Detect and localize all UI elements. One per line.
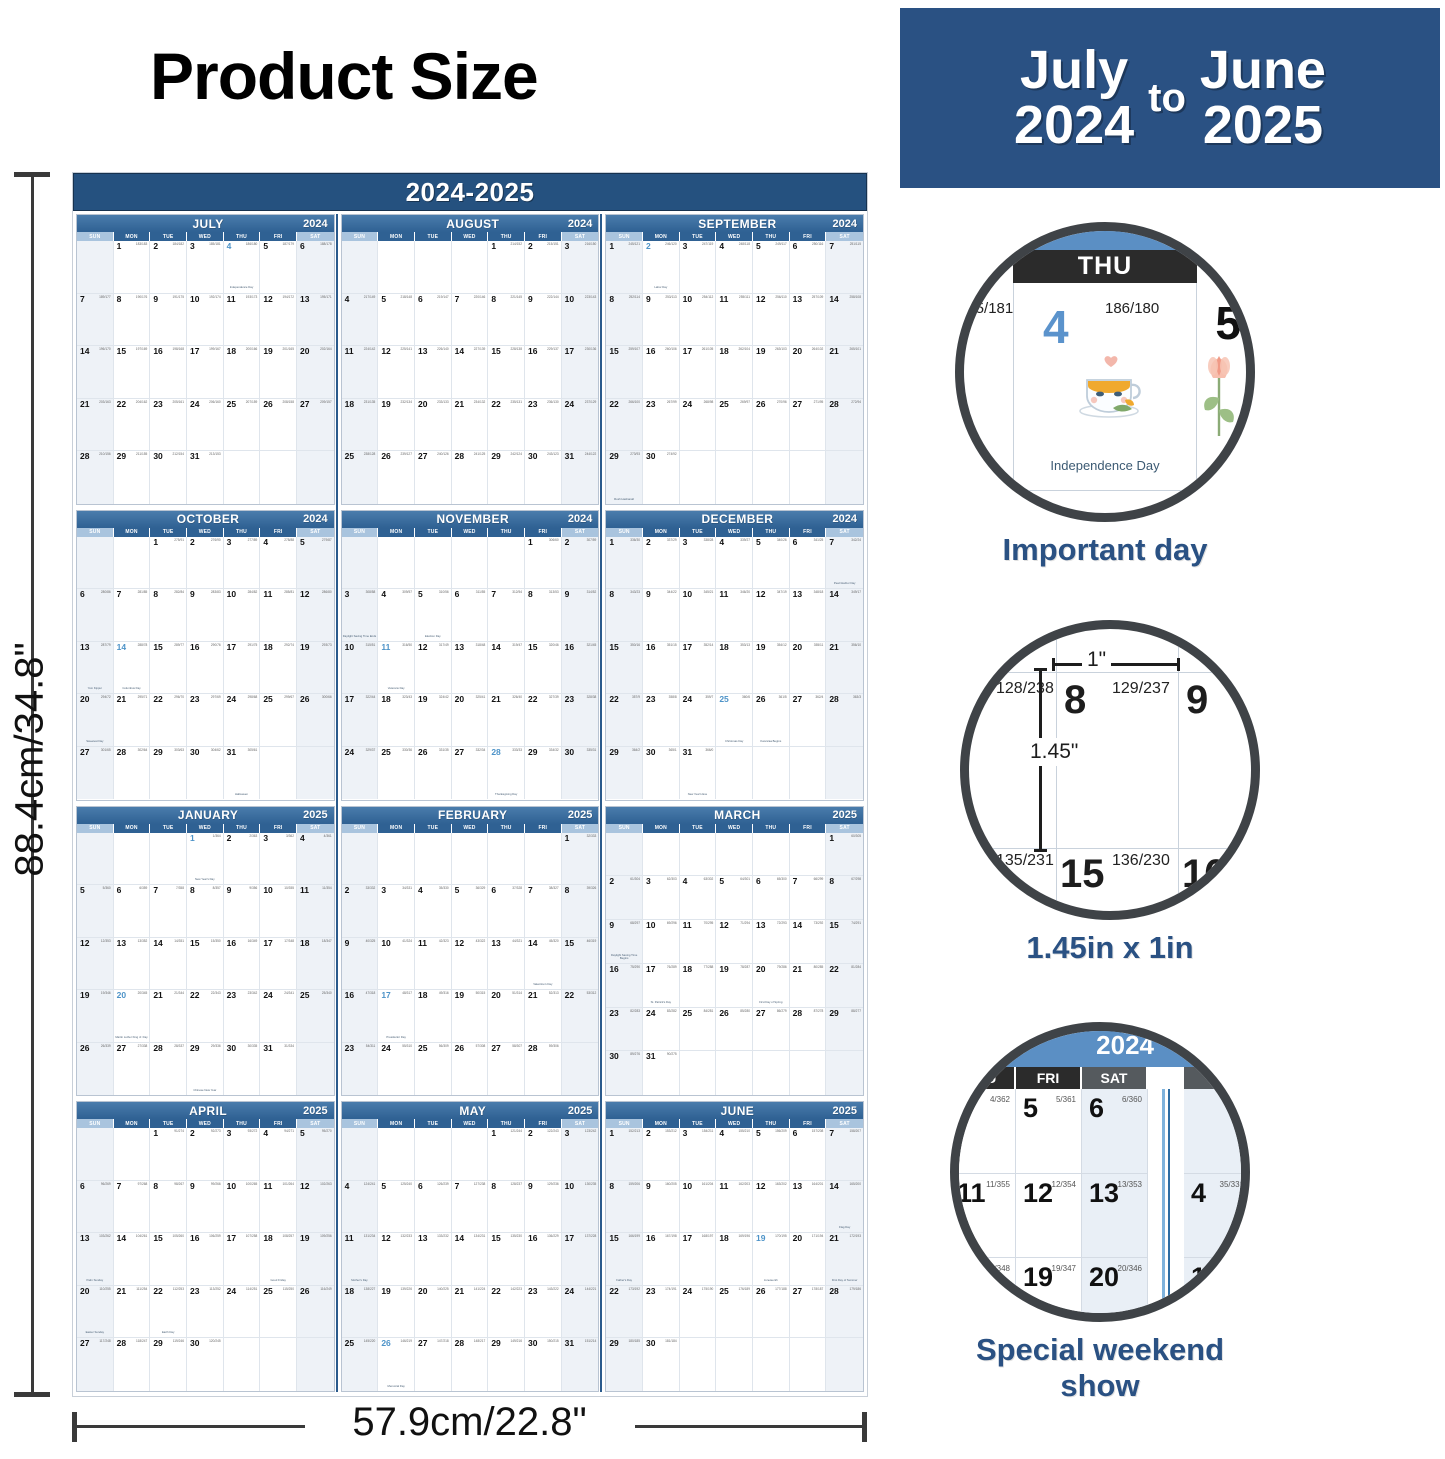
day-cell[interactable]: 5279/87 [297, 537, 334, 590]
day-cell[interactable]: 20140/225 [415, 1286, 452, 1339]
day-cell[interactable]: 16260/106 [643, 346, 680, 399]
day-cell[interactable]: 2184/182 [150, 241, 187, 294]
day-cell[interactable]: 2354/311 [342, 1043, 379, 1096]
day-cell[interactable]: 24144/221 [562, 1286, 599, 1339]
day-cell[interactable]: 3216/150 [562, 241, 599, 294]
day-cell[interactable]: 494/271 [260, 1128, 297, 1181]
day-cell[interactable]: 30335/31 [562, 747, 599, 800]
day-cell[interactable]: 2122/243 [525, 1128, 562, 1181]
day-cell[interactable]: 12163/202 [753, 1181, 790, 1234]
day-cell[interactable] [114, 537, 151, 590]
day-cell[interactable]: 26177/188 [753, 1286, 790, 1339]
day-cell[interactable]: 3277/89 [224, 537, 261, 590]
day-cell[interactable]: 33/362 [260, 833, 297, 886]
day-cell[interactable]: 25269/97 [716, 399, 753, 452]
day-cell[interactable] [680, 833, 717, 877]
day-cell[interactable]: 2121/344 [150, 990, 187, 1043]
day-cell[interactable]: 8221/145 [488, 294, 525, 347]
day-cell[interactable] [297, 451, 334, 504]
day-cell[interactable]: 14196/170 [77, 346, 114, 399]
day-cell[interactable]: 5340/26 [753, 537, 790, 590]
day-cell[interactable]: 5218/148 [378, 294, 415, 347]
day-cell[interactable]: 696/269 [77, 1181, 114, 1234]
day-cell[interactable] [260, 1338, 297, 1391]
day-cell[interactable]: 11/364New Year's Day [187, 833, 224, 886]
day-cell[interactable]: 27147/218 [415, 1338, 452, 1391]
day-cell[interactable]: 27240/126 [415, 451, 452, 504]
day-cell[interactable]: 1142/323 [415, 938, 452, 991]
day-cell[interactable]: 21295/71 [114, 694, 151, 747]
day-cell[interactable] [378, 537, 415, 590]
day-cell[interactable]: 10284/82 [224, 589, 261, 642]
day-cell[interactable]: 1372/293 [753, 920, 790, 964]
day-cell[interactable]: 18138/227 [342, 1286, 379, 1339]
day-cell[interactable]: 18292/74 [260, 642, 297, 695]
day-cell[interactable]: 25115/250 [260, 1286, 297, 1339]
day-cell[interactable]: 1978/287 [716, 964, 753, 1008]
day-cell[interactable]: 2222/343 [187, 990, 224, 1043]
day-cell[interactable]: 2153/212 [643, 1128, 680, 1181]
day-cell[interactable]: 7251/115 [826, 241, 863, 294]
day-cell[interactable]: 2758/307 [488, 1043, 525, 1096]
day-cell[interactable]: 4155/210 [716, 1128, 753, 1181]
day-cell[interactable]: 12317/49 [415, 642, 452, 695]
day-cell[interactable]: 16106/259 [187, 1233, 224, 1286]
day-cell[interactable]: 15350/16 [606, 642, 643, 695]
day-cell[interactable]: 4339/27 [716, 537, 753, 590]
day-cell[interactable]: 31151/214 [562, 1338, 599, 1391]
day-cell[interactable]: 15320/46 [525, 642, 562, 695]
day-cell[interactable]: 30304/62 [187, 747, 224, 800]
day-cell[interactable]: 12225/141 [378, 346, 415, 399]
day-cell[interactable] [562, 1043, 599, 1096]
day-cell[interactable]: 9253/113 [643, 294, 680, 347]
day-cell[interactable]: 31213/153 [187, 451, 224, 504]
day-cell[interactable]: 11285/81 [260, 589, 297, 642]
day-cell[interactable]: 2337/29 [643, 537, 680, 590]
day-cell[interactable]: 2455/310 [378, 1043, 415, 1096]
day-cell[interactable]: 26146/219Memorial Day [378, 1338, 415, 1391]
day-cell[interactable]: 1748/317Presidents' Day [378, 990, 415, 1043]
day-cell[interactable]: 6126/239 [415, 1181, 452, 1234]
day-cell[interactable]: 1111/354 [297, 885, 334, 938]
day-cell[interactable]: 26116/249 [297, 1286, 334, 1339]
day-cell[interactable]: 18200/166 [224, 346, 261, 399]
day-cell[interactable] [452, 833, 489, 886]
day-cell[interactable]: 160/305 [826, 833, 863, 877]
day-cell[interactable]: 13318/48 [452, 642, 489, 695]
day-cell[interactable]: 19232/134 [378, 399, 415, 452]
day-cell[interactable]: 44/361 [297, 833, 334, 886]
day-cell[interactable]: 8190/176 [114, 294, 151, 347]
day-cell[interactable]: 10345/21 [680, 589, 717, 642]
day-cell[interactable]: 11193/173 [224, 294, 261, 347]
day-cell[interactable]: 88/357 [187, 885, 224, 938]
day-cell[interactable]: 20294/72Sweetest Day [77, 694, 114, 747]
day-cell[interactable] [224, 1338, 261, 1391]
day-cell[interactable]: 12132/233 [378, 1233, 415, 1286]
day-cell[interactable]: 14258/108 [826, 294, 863, 347]
day-cell[interactable] [114, 833, 151, 886]
day-cell[interactable]: 20171/194 [790, 1233, 827, 1286]
day-cell[interactable]: 2685/280 [716, 1008, 753, 1052]
day-cell[interactable] [826, 451, 863, 504]
day-cell[interactable] [680, 1051, 717, 1095]
day-cell[interactable] [716, 1051, 753, 1095]
day-cell[interactable]: 2626/339 [77, 1043, 114, 1096]
day-cell[interactable]: 6250/116 [790, 241, 827, 294]
day-cell[interactable]: 26239/127 [378, 451, 415, 504]
day-cell[interactable]: 334/331 [378, 885, 415, 938]
day-cell[interactable]: 3247/119 [680, 241, 717, 294]
day-cell[interactable]: 24175/190 [680, 1286, 717, 1339]
day-cell[interactable]: 463/302 [680, 876, 717, 920]
day-cell[interactable]: 839/326 [562, 885, 599, 938]
day-cell[interactable]: 11224/142 [342, 346, 379, 399]
day-cell[interactable]: 3185/181 [187, 241, 224, 294]
day-cell[interactable]: 1675/290 [606, 964, 643, 1008]
day-cell[interactable]: 4309/57 [378, 589, 415, 642]
day-cell[interactable]: 1445/320Valentine's Day [525, 938, 562, 991]
day-cell[interactable]: 1306/60 [525, 537, 562, 590]
day-cell[interactable]: 2079/286First Day of Spring [753, 964, 790, 1008]
day-cell[interactable]: 19139/226 [378, 1286, 415, 1339]
day-cell[interactable]: 26361/5Kwanzaa Begins [753, 694, 790, 747]
day-cell[interactable]: 1473/292 [790, 920, 827, 964]
day-cell[interactable] [297, 1338, 334, 1391]
day-cell[interactable]: 7312/54 [488, 589, 525, 642]
day-cell[interactable]: 17107/258 [224, 1233, 261, 1286]
day-cell[interactable]: 25176/189 [716, 1286, 753, 1339]
day-cell[interactable]: 18169/196 [716, 1233, 753, 1286]
day-cell[interactable]: 30212/154 [150, 451, 187, 504]
day-cell[interactable]: 12286/80 [297, 589, 334, 642]
day-cell[interactable]: 21356/10 [826, 642, 863, 695]
day-cell[interactable]: 1121/244 [488, 1128, 525, 1181]
day-cell[interactable]: 1717/348 [260, 938, 297, 991]
day-cell[interactable]: 30365/1 [643, 747, 680, 800]
day-cell[interactable] [790, 1051, 827, 1095]
day-cell[interactable]: 21111/254 [114, 1286, 151, 1339]
day-cell[interactable]: 10254/112 [680, 294, 717, 347]
day-cell[interactable]: 15228/138 [488, 346, 525, 399]
day-cell[interactable] [716, 451, 753, 504]
day-cell[interactable]: 27117/248 [77, 1338, 114, 1391]
day-cell[interactable]: 1271/294 [716, 920, 753, 964]
day-cell[interactable] [716, 747, 753, 800]
day-cell[interactable]: 940/325 [342, 938, 379, 991]
day-cell[interactable]: 22/363 [224, 833, 261, 886]
day-cell[interactable]: 1243/322 [452, 938, 489, 991]
day-cell[interactable]: 16321/45 [562, 642, 599, 695]
day-cell[interactable]: 14227/139 [452, 346, 489, 399]
day-cell[interactable]: 15105/260 [150, 1233, 187, 1286]
day-cell[interactable]: 18231/135 [342, 399, 379, 452]
day-cell[interactable]: 21265/101 [826, 346, 863, 399]
day-cell[interactable]: 9222/144 [525, 294, 562, 347]
day-cell[interactable]: 14319/47 [488, 642, 525, 695]
day-cell[interactable]: 15135/230 [488, 1233, 525, 1286]
day-cell[interactable]: 23328/38 [562, 694, 599, 747]
day-cell[interactable]: 16351/15 [643, 642, 680, 695]
day-cell[interactable]: 233/332 [342, 885, 379, 938]
day-cell[interactable]: 4278/88 [260, 537, 297, 590]
day-cell[interactable] [680, 1338, 717, 1391]
day-cell[interactable]: 5310/56Election Day [415, 589, 452, 642]
day-cell[interactable] [150, 833, 187, 886]
day-cell[interactable]: 28148/217 [452, 1338, 489, 1391]
day-cell[interactable]: 999/266 [187, 1181, 224, 1234]
day-cell[interactable]: 21326/40 [488, 694, 525, 747]
day-cell[interactable]: 22327/39 [525, 694, 562, 747]
day-cell[interactable]: 1877/288 [680, 964, 717, 1008]
day-cell[interactable]: 1776/289St. Patrick's Day [643, 964, 680, 1008]
day-cell[interactable]: 17199/167 [187, 346, 224, 399]
day-cell[interactable]: 1919/346 [77, 990, 114, 1043]
day-cell[interactable]: 20355/11 [790, 642, 827, 695]
day-cell[interactable]: 28272/94 [826, 399, 863, 452]
day-cell[interactable]: 8282/84 [150, 589, 187, 642]
day-cell[interactable]: 29149/216 [488, 1338, 525, 1391]
day-cell[interactable]: 20264/102 [790, 346, 827, 399]
day-cell[interactable]: 6188/178 [297, 241, 334, 294]
day-cell[interactable]: 28302/64 [114, 747, 151, 800]
day-cell[interactable]: 7189/177 [77, 294, 114, 347]
day-cell[interactable]: 24359/7 [680, 694, 717, 747]
day-cell[interactable]: 595/270 [297, 1128, 334, 1181]
day-cell[interactable] [114, 1128, 151, 1181]
day-cell[interactable]: 22173/192 [606, 1286, 643, 1339]
day-cell[interactable]: 10192/174 [187, 294, 224, 347]
day-cell[interactable]: 1344/321 [488, 938, 525, 991]
day-cell[interactable]: 3123/242 [562, 1128, 599, 1181]
day-cell[interactable]: 12194/172 [260, 294, 297, 347]
day-cell[interactable]: 968/297Daylight Saving Time Begins [606, 920, 643, 964]
day-cell[interactable]: 25330/36 [378, 747, 415, 800]
day-cell[interactable]: 1950/315 [452, 990, 489, 1043]
day-cell[interactable]: 13226/140 [415, 346, 452, 399]
day-cell[interactable]: 15197/169 [114, 346, 151, 399]
day-cell[interactable]: 17352/14 [680, 642, 717, 695]
day-cell[interactable]: 7342/24Pearl Harbor Day [826, 537, 863, 590]
day-cell[interactable]: 26208/158 [260, 399, 297, 452]
day-cell[interactable]: 261/304 [606, 876, 643, 920]
day-cell[interactable]: 19354/12 [753, 642, 790, 695]
day-cell[interactable]: 29180/185 [606, 1338, 643, 1391]
day-cell[interactable]: 31244/122 [562, 451, 599, 504]
day-cell[interactable]: 2988/277 [826, 1008, 863, 1052]
day-cell[interactable]: 3131/334 [260, 1043, 297, 1096]
day-cell[interactable]: 637/328 [488, 885, 525, 938]
day-cell[interactable]: 28118/247 [114, 1338, 151, 1391]
day-cell[interactable]: 9344/22 [643, 589, 680, 642]
day-cell[interactable]: 10100/265 [224, 1181, 261, 1234]
day-cell[interactable]: 22235/131 [488, 399, 525, 452]
day-cell[interactable]: 16167/198 [643, 1233, 680, 1286]
day-cell[interactable]: 1647/318 [342, 990, 379, 1043]
day-cell[interactable]: 8159/206 [606, 1181, 643, 1234]
day-cell[interactable]: 2051/314 [488, 990, 525, 1043]
day-cell[interactable]: 8128/237 [488, 1181, 525, 1234]
day-cell[interactable]: 6280/86 [77, 589, 114, 642]
day-cell[interactable]: 29334/32 [525, 747, 562, 800]
day-cell[interactable]: 11346/20 [716, 589, 753, 642]
day-cell[interactable]: 2246/120Labor Day [643, 241, 680, 294]
day-cell[interactable]: 17230/136 [562, 346, 599, 399]
day-cell[interactable] [415, 1128, 452, 1181]
day-cell[interactable] [452, 1128, 489, 1181]
day-cell[interactable]: 19201/165 [260, 346, 297, 399]
day-cell[interactable]: 23205/161 [150, 399, 187, 452]
day-cell[interactable] [297, 1043, 334, 1096]
day-cell[interactable]: 393/272 [224, 1128, 261, 1181]
day-cell[interactable]: 22204/162 [114, 399, 151, 452]
day-cell[interactable]: 19263/103 [753, 346, 790, 399]
day-cell[interactable] [606, 833, 643, 877]
day-cell[interactable]: 24298/68 [224, 694, 261, 747]
day-cell[interactable]: 1574/291 [826, 920, 863, 964]
day-cell[interactable]: 20233/133 [415, 399, 452, 452]
day-cell[interactable]: 21203/163 [77, 399, 114, 452]
day-cell[interactable]: 12102/263 [297, 1181, 334, 1234]
day-cell[interactable] [415, 241, 452, 294]
day-cell[interactable]: 30150/215 [525, 1338, 562, 1391]
day-cell[interactable]: 23297/69 [187, 694, 224, 747]
day-cell[interactable]: 99/356 [224, 885, 261, 938]
day-cell[interactable]: 13164/201 [790, 1181, 827, 1234]
day-cell[interactable]: 132/333 [562, 833, 599, 886]
day-cell[interactable]: 435/330 [415, 885, 452, 938]
day-cell[interactable]: 1414/351 [150, 938, 187, 991]
day-cell[interactable]: 5187/179 [260, 241, 297, 294]
day-cell[interactable]: 2152/313 [525, 990, 562, 1043]
day-cell[interactable]: 28210/156 [77, 451, 114, 504]
day-cell[interactable]: 4217/149 [342, 294, 379, 347]
day-cell[interactable]: 1515/350 [187, 938, 224, 991]
day-cell[interactable]: 9129/236 [525, 1181, 562, 1234]
day-cell[interactable]: 26270/96 [753, 399, 790, 452]
day-cell[interactable] [753, 451, 790, 504]
day-cell[interactable] [415, 833, 452, 886]
day-cell[interactable]: 18108/257Good Friday [260, 1233, 297, 1286]
day-cell[interactable]: 30243/123 [525, 451, 562, 504]
day-cell[interactable]: 898/267 [150, 1181, 187, 1234]
day-cell[interactable] [790, 1338, 827, 1391]
day-cell[interactable] [826, 1338, 863, 1391]
day-cell[interactable]: 25299/67 [260, 694, 297, 747]
day-cell[interactable]: 31366/0New Year's Eve [680, 747, 717, 800]
day-cell[interactable]: 15289/77 [150, 642, 187, 695]
day-cell[interactable] [790, 451, 827, 504]
day-cell[interactable]: 30274/92 [643, 451, 680, 504]
day-cell[interactable]: 2657/308 [452, 1043, 489, 1096]
day-cell[interactable]: 7158/207 [826, 1128, 863, 1181]
day-cell[interactable] [77, 833, 114, 886]
day-cell[interactable] [525, 833, 562, 886]
day-cell[interactable] [342, 241, 379, 294]
day-cell[interactable] [753, 833, 790, 877]
day-cell[interactable]: 2215/151 [525, 241, 562, 294]
day-cell[interactable]: 29273/93Rosh Hashanah [606, 451, 643, 504]
day-cell[interactable]: 9191/175 [150, 294, 187, 347]
day-cell[interactable]: 18262/104 [716, 346, 753, 399]
day-cell[interactable]: 797/268 [114, 1181, 151, 1234]
day-cell[interactable] [790, 747, 827, 800]
day-cell[interactable] [753, 1051, 790, 1095]
day-cell[interactable]: 1212/353 [77, 938, 114, 991]
day-cell[interactable]: 2307/59 [562, 537, 599, 590]
day-cell[interactable]: 27209/157 [297, 399, 334, 452]
day-cell[interactable]: 11316/50Veterans Day [378, 642, 415, 695]
day-cell[interactable]: 4186/180Independence Day [224, 241, 261, 294]
day-cell[interactable]: 6157/208 [790, 1128, 827, 1181]
day-cell[interactable] [790, 833, 827, 877]
day-cell[interactable]: 1616/349 [224, 938, 261, 991]
day-cell[interactable] [224, 451, 261, 504]
day-cell[interactable]: 5125/240 [378, 1181, 415, 1234]
day-cell[interactable]: 27362/4 [790, 694, 827, 747]
day-cell[interactable]: 27332/34 [452, 747, 489, 800]
day-cell[interactable]: 66/359 [114, 885, 151, 938]
day-cell[interactable] [260, 451, 297, 504]
day-cell[interactable]: 24329/37 [342, 747, 379, 800]
day-cell[interactable] [826, 1051, 863, 1095]
day-cell[interactable]: 29211/155 [114, 451, 151, 504]
day-cell[interactable]: 1849/316 [415, 990, 452, 1043]
day-cell[interactable]: 23236/130 [525, 399, 562, 452]
day-cell[interactable]: 12256/110 [753, 294, 790, 347]
day-cell[interactable]: 1152/213 [606, 1128, 643, 1181]
day-cell[interactable]: 27178/187 [790, 1286, 827, 1339]
day-cell[interactable]: 1214/152 [488, 241, 525, 294]
day-cell[interactable]: 5249/117 [753, 241, 790, 294]
day-cell[interactable] [680, 451, 717, 504]
day-cell[interactable]: 29242/124 [488, 451, 525, 504]
day-cell[interactable]: 22112/253Earth Day [150, 1286, 187, 1339]
day-cell[interactable]: 2859/306 [525, 1043, 562, 1096]
day-cell[interactable]: 3190/275 [643, 1051, 680, 1095]
day-cell[interactable] [488, 833, 525, 886]
day-cell[interactable]: 28241/125 [452, 451, 489, 504]
day-cell[interactable]: 24268/98 [680, 399, 717, 452]
day-cell[interactable] [342, 1128, 379, 1181]
day-cell[interactable]: 16229/137 [525, 346, 562, 399]
day-cell[interactable]: 25360/6Christmas Day [716, 694, 753, 747]
day-cell[interactable]: 2020/345Martin Luther King Jr. Day [114, 990, 151, 1043]
day-cell[interactable]: 6311/55 [452, 589, 489, 642]
day-cell[interactable]: 7127/238 [452, 1181, 489, 1234]
day-cell[interactable]: 1275/91 [150, 537, 187, 590]
day-cell[interactable]: 25207/159 [224, 399, 261, 452]
day-cell[interactable]: 22142/223 [488, 1286, 525, 1339]
day-cell[interactable]: 10130/235 [562, 1181, 599, 1234]
day-cell[interactable] [77, 1128, 114, 1181]
day-cell[interactable]: 23143/222 [525, 1286, 562, 1339]
day-cell[interactable] [342, 537, 379, 590]
day-cell[interactable]: 2483/282 [643, 1008, 680, 1052]
day-cell[interactable]: 13133/232 [415, 1233, 452, 1286]
day-cell[interactable]: 2929/336Chinese New Year [187, 1043, 224, 1096]
day-cell[interactable]: 362/303 [643, 876, 680, 920]
day-cell[interactable] [452, 537, 489, 590]
day-cell[interactable]: 14165/200Flag Day [826, 1181, 863, 1234]
day-cell[interactable]: 27301/65 [77, 747, 114, 800]
day-cell[interactable] [716, 833, 753, 877]
day-cell[interactable]: 3154/211 [680, 1128, 717, 1181]
day-cell[interactable]: 20110/255Easter Sunday [77, 1286, 114, 1339]
day-cell[interactable]: 10161/204 [680, 1181, 717, 1234]
day-cell[interactable]: 25145/220 [342, 1338, 379, 1391]
